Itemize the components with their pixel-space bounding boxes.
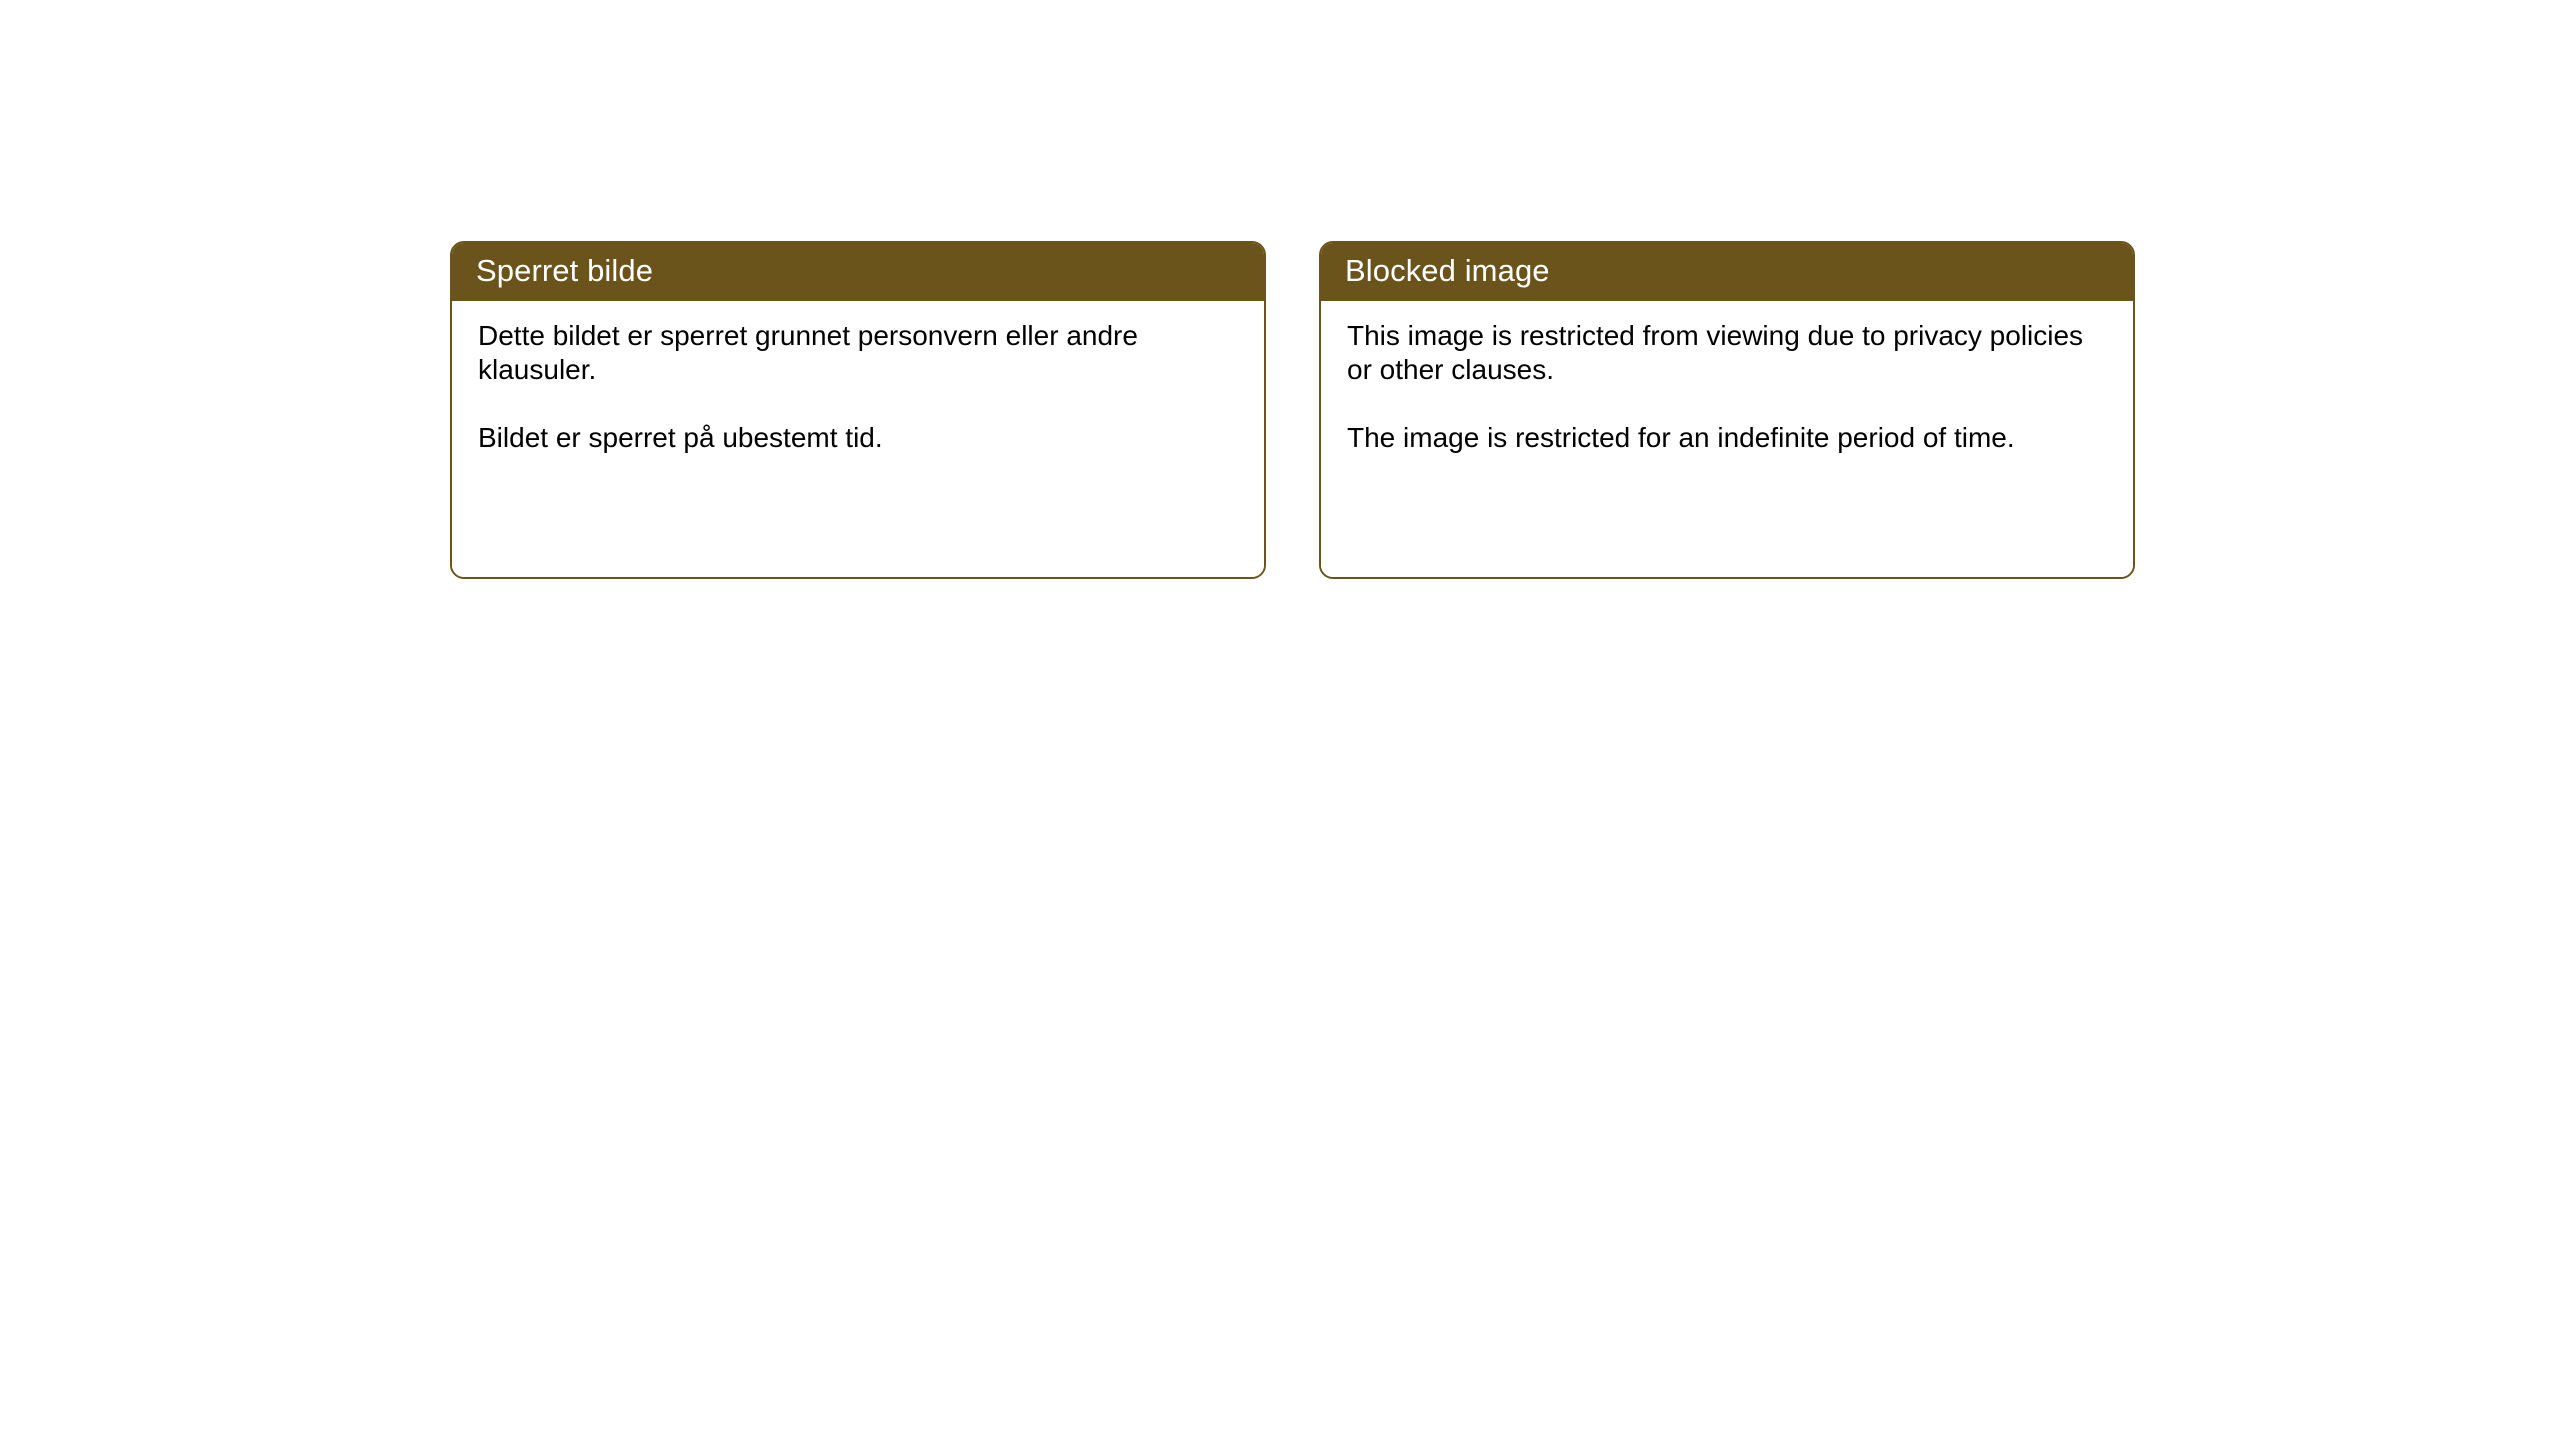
panel-paragraph-duration-norwegian: Bildet er sperret på ubestemt tid. xyxy=(478,421,1238,455)
panel-title-norwegian: Sperret bilde xyxy=(474,255,653,288)
panel-header-norwegian: Sperret bilde xyxy=(450,241,1266,301)
panel-body-norwegian: Dette bildet er sperret grunnet personve… xyxy=(452,301,1264,577)
panel-body-english: This image is restricted from viewing du… xyxy=(1321,301,2133,577)
panel-header-english: Blocked image xyxy=(1319,241,2135,301)
panel-paragraph-duration-english: The image is restricted for an indefinit… xyxy=(1347,421,2107,455)
blocked-image-panel-norwegian: Sperret bilde Dette bildet er sperret gr… xyxy=(450,241,1266,579)
blocked-image-notice-area: Sperret bilde Dette bildet er sperret gr… xyxy=(450,241,2136,579)
panel-paragraph-reason-norwegian: Dette bildet er sperret grunnet personve… xyxy=(478,319,1238,387)
blocked-image-panel-english: Blocked image This image is restricted f… xyxy=(1319,241,2135,579)
panel-paragraph-reason-english: This image is restricted from viewing du… xyxy=(1347,319,2107,387)
panel-title-english: Blocked image xyxy=(1343,255,1550,288)
